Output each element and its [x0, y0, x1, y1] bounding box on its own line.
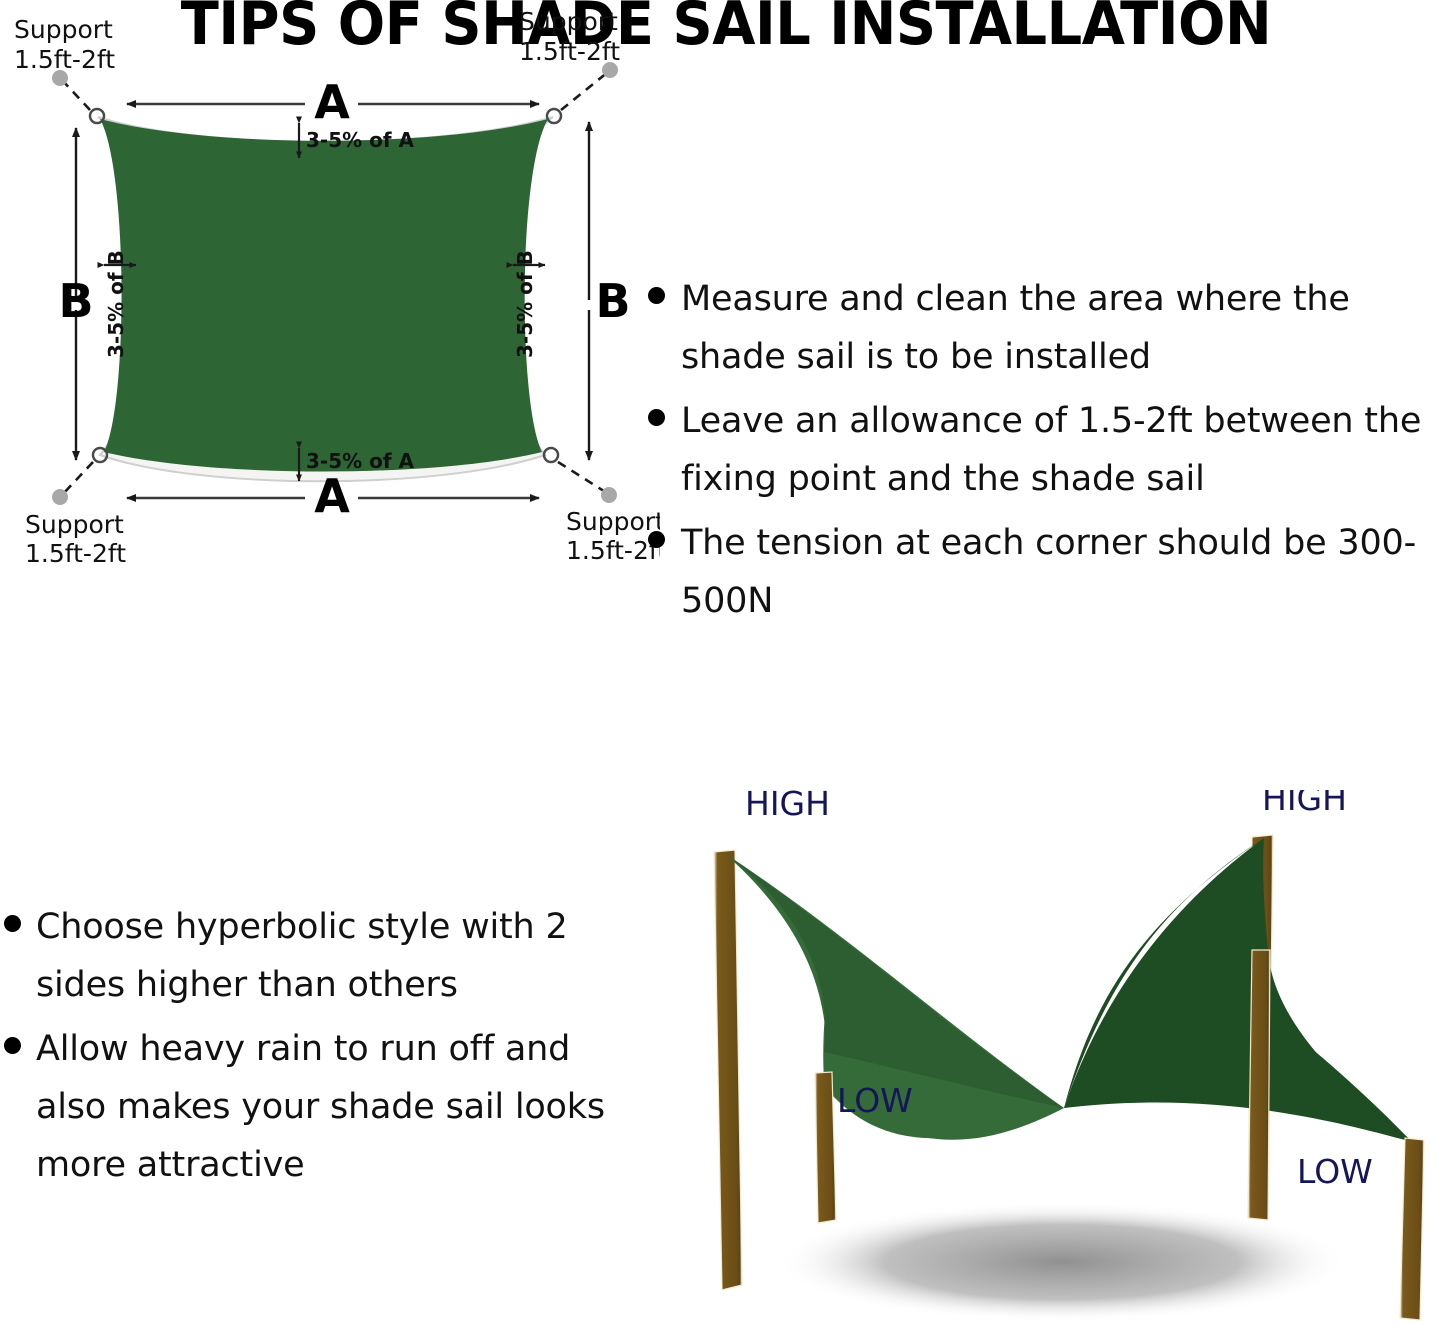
- label-low-bottom-right: LOW: [1297, 1152, 1373, 1191]
- bullet-icon: [648, 531, 665, 548]
- list-item: Measure and clean the area where the sha…: [648, 270, 1452, 386]
- support-label-bottom-left-line2: 1.5ft-2ft: [25, 539, 126, 568]
- style-text: Allow heavy rain to run off and also mak…: [36, 1020, 634, 1194]
- top-diagram: Support 1.5ft-2ft Support 1.5ft-2ft Supp…: [0, 0, 660, 570]
- ground-shadow: [777, 1202, 1347, 1322]
- list-item: The tension at each corner should be 300…: [648, 514, 1452, 630]
- hyperbolic-diagram: HIGH HIGH LOW LOW: [672, 790, 1452, 1325]
- installation-tips-list: Measure and clean the area where the sha…: [648, 270, 1452, 637]
- corner-eyelet-top-right: [547, 109, 561, 123]
- support-line-bottom-right: [558, 462, 607, 493]
- post-high-left: [714, 850, 742, 1290]
- style-notes-list: Choose hyperbolic style with 2 sides hig…: [4, 898, 634, 1200]
- support-dot-bottom-right: [601, 487, 617, 503]
- post-low-left: [815, 1072, 836, 1223]
- bullet-icon: [4, 915, 21, 932]
- label-high-top-right: HIGH: [1262, 790, 1347, 818]
- support-line-top-right: [561, 72, 608, 110]
- tip-text: Measure and clean the area where the sha…: [681, 270, 1452, 386]
- support-label-top-right-line1: Support: [519, 7, 618, 36]
- rectangular-sail-svg: Support 1.5ft-2ft Support 1.5ft-2ft Supp…: [0, 0, 660, 575]
- sail-body: [100, 119, 548, 472]
- support-label-bottom-left-line1: Support: [25, 510, 124, 539]
- dim-label-top-A: A: [314, 75, 350, 129]
- curve-label-top: 3-5% of A: [306, 128, 415, 152]
- curve-label-bottom: 3-5% of A: [306, 449, 415, 473]
- support-label-top-left-line1: Support: [14, 15, 113, 44]
- post-high-right-front: [1248, 950, 1270, 1220]
- list-item: Allow heavy rain to run off and also mak…: [4, 1020, 634, 1194]
- list-item: Leave an allowance of 1.5-2ft between th…: [648, 392, 1452, 508]
- support-label-bottom-right-line1: Support: [566, 507, 660, 536]
- tip-text: The tension at each corner should be 300…: [681, 514, 1452, 630]
- dim-label-left-B: B: [58, 274, 93, 328]
- label-low-bottom-left: LOW: [837, 1081, 913, 1120]
- label-high-top-left: HIGH: [745, 790, 830, 823]
- support-line-bottom-left: [62, 462, 93, 495]
- support-label-bottom-right-line2: 1.5ft-2ft: [566, 536, 660, 565]
- post-low-right: [1400, 1138, 1424, 1320]
- list-item: Choose hyperbolic style with 2 sides hig…: [4, 898, 634, 1014]
- support-label-top-right-line2: 1.5ft-2ft: [519, 37, 620, 66]
- curve-label-right: 3-5% of B: [513, 250, 537, 358]
- corner-eyelet-top-left: [90, 109, 104, 123]
- support-line-top-left: [62, 80, 90, 110]
- curve-label-left: 3-5% of B: [104, 250, 128, 358]
- support-label-top-left-line2: 1.5ft-2ft: [14, 45, 115, 74]
- bullet-icon: [4, 1037, 21, 1054]
- dim-label-right-B: B: [595, 274, 630, 328]
- style-text: Choose hyperbolic style with 2 sides hig…: [36, 898, 634, 1014]
- hyperbolic-sail-svg: HIGH HIGH LOW LOW: [672, 790, 1452, 1325]
- tip-text: Leave an allowance of 1.5-2ft between th…: [681, 392, 1452, 508]
- dim-label-bottom-A: A: [314, 469, 350, 523]
- bullet-icon: [648, 287, 665, 304]
- support-dot-bottom-left: [52, 489, 68, 505]
- bullet-icon: [648, 409, 665, 426]
